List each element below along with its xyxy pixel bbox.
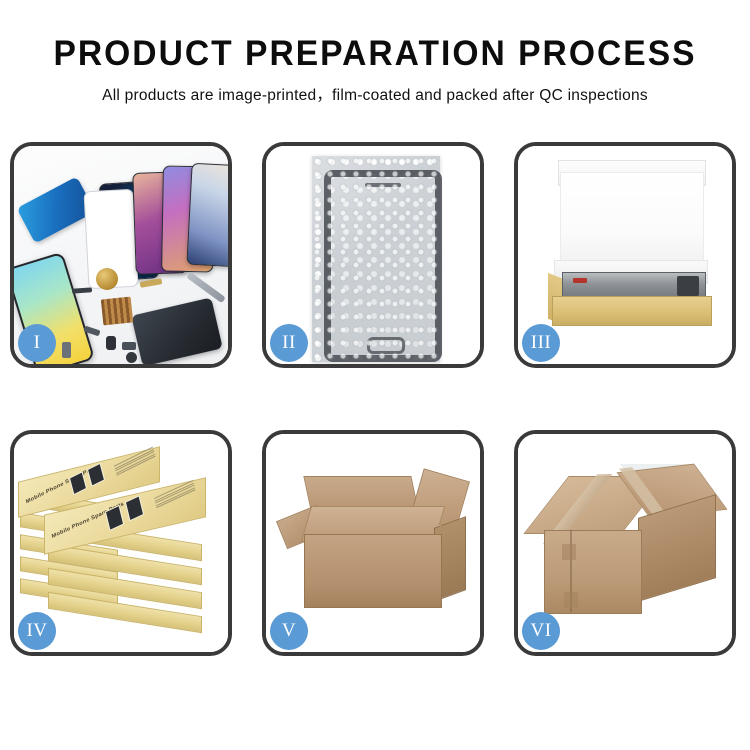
spare-part-battery <box>62 342 71 358</box>
bubble-wrap-sheet <box>312 156 440 362</box>
phone-screen-dark <box>186 163 228 268</box>
process-panel-2: II <box>262 142 484 368</box>
process-panel-grid: I II <box>10 142 742 656</box>
chip-array <box>101 297 134 326</box>
process-panel-6: VI <box>514 430 736 656</box>
spare-part-button <box>106 336 116 350</box>
process-panel-4: Mobile Phone Spare Parts Mobile Phone Sp… <box>10 430 232 656</box>
foam-padding-back <box>560 172 704 272</box>
box-label-spec-lines <box>114 446 156 477</box>
panel-badge-6: VI <box>522 612 560 650</box>
bubble-texture-overlay <box>312 156 440 362</box>
panel-badge-4: IV <box>18 612 56 650</box>
speaker-coil-part <box>96 268 118 290</box>
phone-logic-board <box>131 297 223 364</box>
carton-tab-upper <box>562 544 576 560</box>
panel-badge-5: V <box>270 612 308 650</box>
process-panel-3: III <box>514 142 736 368</box>
box-label-phone-image <box>87 463 105 487</box>
spare-part-strip <box>72 287 92 293</box>
panel-badge-1: I <box>18 324 56 362</box>
spare-part-module <box>122 342 136 350</box>
page-header: PRODUCT PREPARATION PROCESS All products… <box>0 0 750 105</box>
kraft-box-front-wall <box>552 296 712 326</box>
box-label-phone-image <box>125 495 144 521</box>
panel-badge-2: II <box>270 324 308 362</box>
product-connector <box>677 276 699 296</box>
carton-tab-lower <box>564 592 578 608</box>
spare-part-flex-cable <box>140 278 163 288</box>
spare-part-camera <box>126 352 137 363</box>
box-label-spec-lines <box>154 480 196 510</box>
carton-front-face <box>304 534 442 608</box>
page-title: PRODUCT PREPARATION PROCESS <box>15 34 735 74</box>
carton-front-face <box>544 530 642 614</box>
page-subtitle: All products are image-printed，film-coat… <box>0 83 750 105</box>
panel-badge-3: III <box>522 324 560 362</box>
product-red-mark <box>573 278 587 283</box>
process-panel-1: I <box>10 142 232 368</box>
process-panel-5: V <box>262 430 484 656</box>
